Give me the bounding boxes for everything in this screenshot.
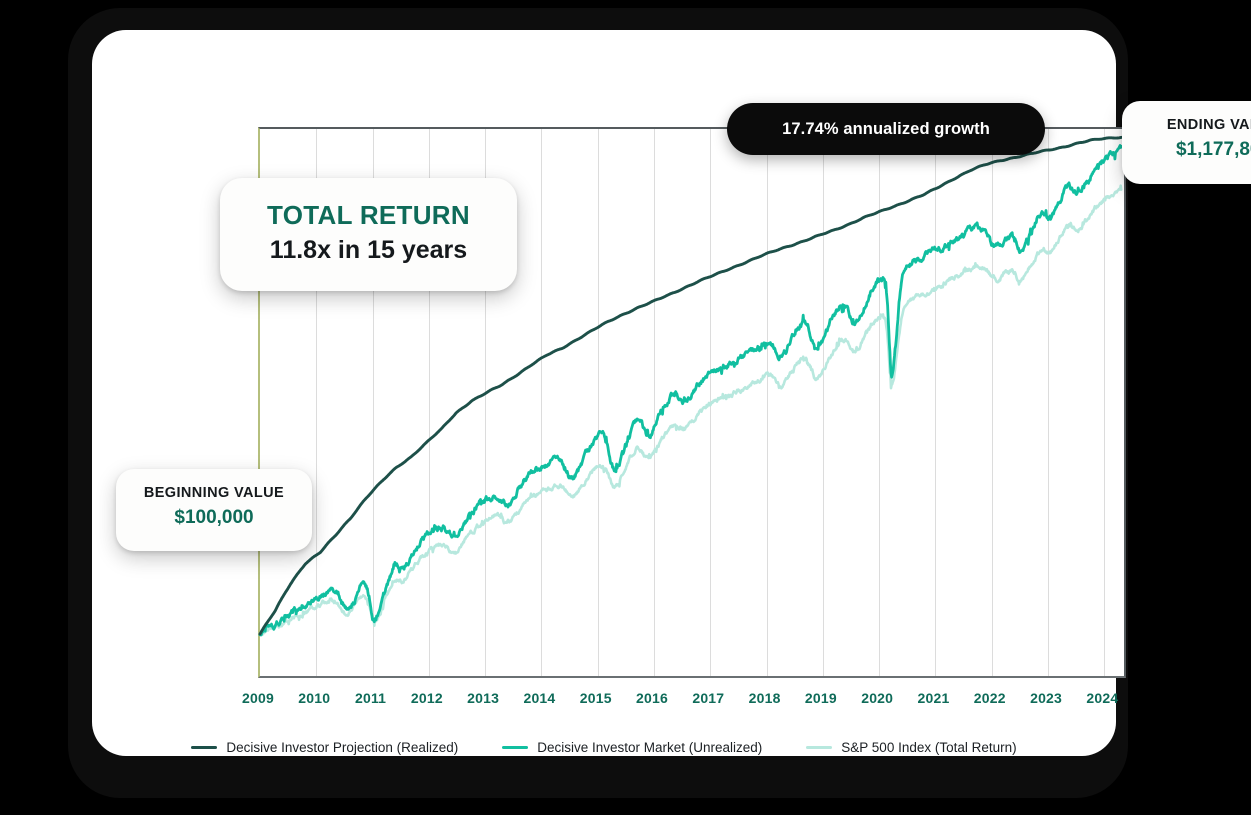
chart-x-axis: 2009201020112012201320142015201620172018…	[258, 690, 1126, 712]
x-tick-2011: 2011	[355, 690, 386, 706]
chart-card: 2009201020112012201320142015201620172018…	[92, 30, 1116, 756]
callout-beginning-title: BEGINNING VALUE	[116, 485, 312, 501]
screenshot-root: 2009201020112012201320142015201620172018…	[0, 0, 1251, 815]
x-tick-2021: 2021	[918, 690, 950, 706]
callout-annualized-growth: 17.74% annualized growth	[727, 103, 1045, 155]
legend-label-2: S&P 500 Index (Total Return)	[841, 740, 1016, 755]
x-tick-2019: 2019	[805, 690, 837, 706]
x-tick-2017: 2017	[692, 690, 724, 706]
x-tick-2023: 2023	[1030, 690, 1062, 706]
callout-beginning-value: BEGINNING VALUE $100,000	[116, 469, 312, 551]
x-tick-2020: 2020	[861, 690, 893, 706]
callout-total-return-title: TOTAL RETURN	[220, 200, 517, 231]
legend-swatch-icon-2	[806, 746, 832, 749]
callout-total-return: TOTAL RETURN 11.8x in 15 years	[220, 178, 517, 291]
legend-item-1[interactable]: Decisive Investor Market (Unrealized)	[502, 740, 762, 755]
x-tick-2013: 2013	[467, 690, 499, 706]
legend-swatch-icon-0	[191, 746, 217, 749]
legend-swatch-icon-1	[502, 746, 528, 749]
legend-item-0[interactable]: Decisive Investor Projection (Realized)	[191, 740, 458, 755]
chart-legend: Decisive Investor Projection (Realized)D…	[92, 740, 1116, 755]
x-tick-2024: 2024	[1086, 690, 1118, 706]
legend-label-0: Decisive Investor Projection (Realized)	[226, 740, 458, 755]
x-tick-2014: 2014	[523, 690, 555, 706]
callout-total-return-value: 11.8x in 15 years	[220, 236, 517, 265]
legend-label-1: Decisive Investor Market (Unrealized)	[537, 740, 762, 755]
x-tick-2018: 2018	[749, 690, 781, 706]
callout-beginning-amount: $100,000	[116, 507, 312, 529]
x-tick-2016: 2016	[636, 690, 668, 706]
x-tick-2012: 2012	[411, 690, 443, 706]
callout-annualized-growth-text: 17.74% annualized growth	[782, 120, 990, 139]
x-tick-2015: 2015	[580, 690, 612, 706]
x-tick-2022: 2022	[974, 690, 1006, 706]
callout-ending-title: ENDING VALUE	[1122, 117, 1251, 133]
x-tick-2009: 2009	[242, 690, 274, 706]
x-tick-2010: 2010	[298, 690, 330, 706]
callout-ending-amount: $1,177,800	[1122, 139, 1251, 161]
callout-ending-value: ENDING VALUE $1,177,800	[1122, 101, 1251, 184]
legend-item-2[interactable]: S&P 500 Index (Total Return)	[806, 740, 1016, 755]
